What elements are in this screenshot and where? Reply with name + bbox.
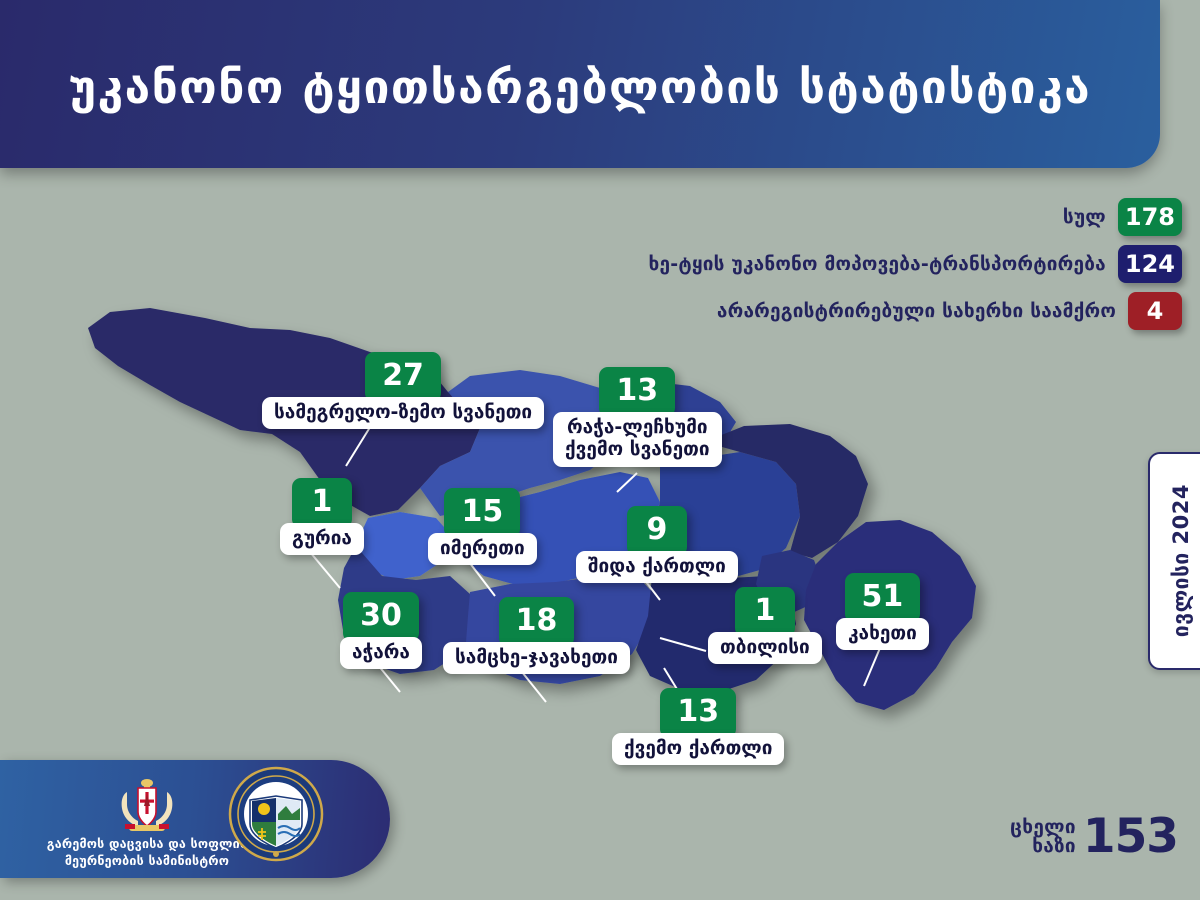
georgia-coat-of-arms-icon xyxy=(114,776,180,834)
marker-value-shida-kartli: 9 xyxy=(627,506,687,556)
marker-value-samtskhe-javakheti: 18 xyxy=(499,597,575,647)
marker-tbilisi[interactable]: 1 თბილისი xyxy=(708,587,822,664)
marker-imereti[interactable]: 15 იმერეთი xyxy=(428,488,537,565)
marker-value-kvemo-kartli: 13 xyxy=(660,688,736,738)
marker-value-adjara: 30 xyxy=(343,592,419,642)
marker-label-shida-kartli: შიდა ქართლი xyxy=(576,551,738,583)
marker-adjara[interactable]: 30 აჭარა xyxy=(340,592,422,669)
marker-label-tbilisi: თბილისი xyxy=(708,632,822,664)
date-label: ივლისი 2024 xyxy=(1169,484,1193,637)
marker-kvemo-kartli[interactable]: 13 ქვემო ქართლი xyxy=(612,688,784,765)
ministry-seal-icon xyxy=(228,766,324,862)
legend-row-total: სულ 178 xyxy=(1063,198,1182,236)
marker-racha-lechkhumi[interactable]: 13 რაჭა-ლეჩხუმი ქვემო სვანეთი xyxy=(553,367,722,467)
legend-row-illegal-logging-transport: ხე-ტყის უკანონო მოპოვება-ტრანსპორტირება … xyxy=(649,245,1183,283)
date-panel: ივლისი 2024 xyxy=(1148,452,1200,670)
marker-value-kakheti: 51 xyxy=(845,573,921,623)
marker-value-tbilisi: 1 xyxy=(735,587,795,637)
marker-label-adjara: აჭარა xyxy=(340,637,422,669)
marker-label-racha-lechkhumi: რაჭა-ლეჩხუმი ქვემო სვანეთი xyxy=(553,412,722,467)
ministry-name: გარემოს დაცვისა და სოფლის მეურნეობის სამ… xyxy=(47,836,247,870)
marker-value-guria: 1 xyxy=(292,478,352,528)
infographic-canvas: უკანონო ტყითსარგებლობის სტატისტიკა სულ 1… xyxy=(0,0,1200,900)
marker-label-samegrelo-zemo-svaneti: სამეგრელო-ზემო სვანეთი xyxy=(262,397,544,429)
marker-label-kakheti: კახეთი xyxy=(836,618,929,650)
marker-samtskhe-javakheti[interactable]: 18 სამცხე-ჯავახეთი xyxy=(443,597,630,674)
hotline-number: 153 xyxy=(1083,816,1178,858)
marker-samegrelo-zemo-svaneti[interactable]: 27 სამეგრელო-ზემო სვანეთი xyxy=(262,352,544,429)
marker-label-samtskhe-javakheti: სამცხე-ჯავახეთი xyxy=(443,642,630,674)
legend-label-total: სულ xyxy=(1063,206,1106,228)
marker-label-guria: გურია xyxy=(280,523,364,555)
marker-guria[interactable]: 1 გურია xyxy=(280,478,364,555)
legend-badge-illegal-logging-transport: 124 xyxy=(1118,245,1182,283)
marker-value-imereti: 15 xyxy=(444,488,520,538)
marker-label-kvemo-kartli: ქვემო ქართლი xyxy=(612,733,784,765)
hotline: ცხელი ხაზი 153 xyxy=(1010,816,1178,858)
marker-value-samegrelo-zemo-svaneti: 27 xyxy=(365,352,441,402)
marker-value-racha-lechkhumi: 13 xyxy=(599,367,675,417)
legend-row-unregistered-sawmill: არარეგისტრირებული სახერხი საამქრო 4 xyxy=(717,292,1182,330)
marker-kakheti[interactable]: 51 კახეთი xyxy=(836,573,929,650)
hotline-label: ცხელი ხაზი xyxy=(1010,818,1076,856)
legend-label-unregistered-sawmill: არარეგისტრირებული სახერხი საამქრო xyxy=(717,300,1116,322)
legend-badge-unregistered-sawmill: 4 xyxy=(1128,292,1182,330)
legend: სულ 178 ხე-ტყის უკანონო მოპოვება-ტრანსპო… xyxy=(649,198,1183,330)
legend-badge-total: 178 xyxy=(1118,198,1182,236)
marker-label-imereti: იმერეთი xyxy=(428,533,537,565)
marker-shida-kartli[interactable]: 9 შიდა ქართლი xyxy=(576,506,738,583)
legend-label-illegal-logging-transport: ხე-ტყის უკანონო მოპოვება-ტრანსპორტირება xyxy=(649,253,1106,275)
header-banner: უკანონო ტყითსარგებლობის სტატისტიკა xyxy=(0,0,1160,168)
page-title: უკანონო ტყითსარგებლობის სტატისტიკა xyxy=(69,54,1091,114)
